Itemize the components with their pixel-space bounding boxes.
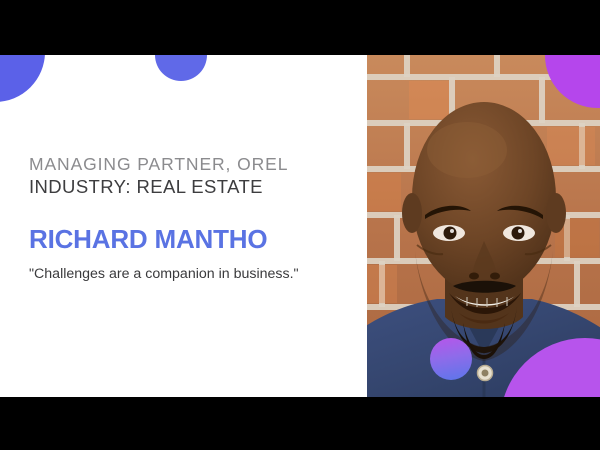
- role-title-line-1: MANAGING PARTNER, OREL: [29, 154, 288, 175]
- person-name: RICHARD MANTHO: [29, 224, 267, 255]
- industry-line: INDUSTRY: REAL ESTATE: [29, 176, 263, 198]
- video-slide-frame: MANAGING PARTNER, OREL INDUSTRY: REAL ES…: [0, 0, 600, 450]
- letterbox-bar-bottom: [0, 397, 600, 450]
- slide-content: MANAGING PARTNER, OREL INDUSTRY: REAL ES…: [0, 55, 600, 397]
- text-block: MANAGING PARTNER, OREL INDUSTRY: REAL ES…: [0, 55, 367, 397]
- quote-text: "Challenges are a companion in business.…: [29, 264, 299, 285]
- gradient-circle-icon: [430, 338, 472, 380]
- letterbox-bar-top: [0, 0, 600, 55]
